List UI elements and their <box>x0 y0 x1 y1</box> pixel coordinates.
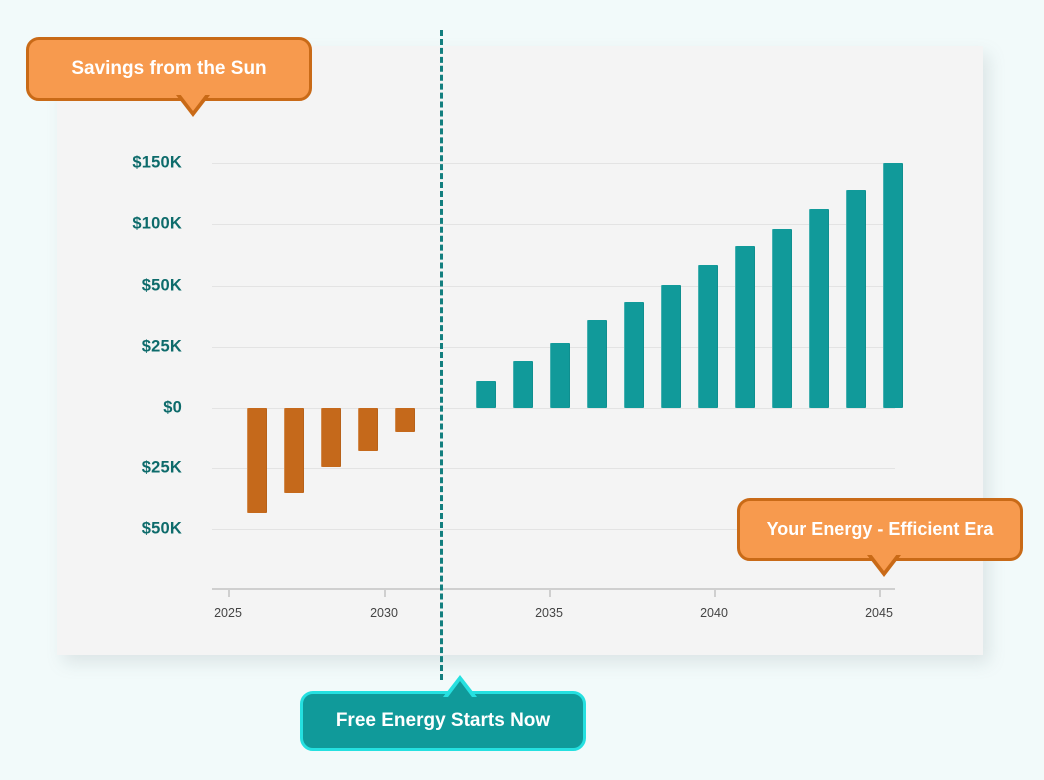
y-axis-tick-label: $100K <box>62 215 182 234</box>
gridline <box>212 408 895 409</box>
x-axis-tick-label: 2030 <box>354 606 414 620</box>
x-axis-tick-label: 2045 <box>849 606 909 620</box>
callout-energy-efficient-era[interactable]: Your Energy - Efficient Era <box>737 498 1023 561</box>
y-axis-tick-label: $50K <box>62 520 182 539</box>
callout-savings-label: Savings from the Sun <box>71 58 266 80</box>
x-axis-tick <box>384 588 386 597</box>
callout-pointer-up-icon <box>443 675 477 697</box>
y-axis-tick-label: $25K <box>62 459 182 478</box>
callout-pointer-down-icon <box>176 95 210 117</box>
x-axis-tick <box>714 588 716 597</box>
x-axis-tick <box>549 588 551 597</box>
bar-positive[interactable] <box>513 361 533 408</box>
bar-positive[interactable] <box>735 246 755 408</box>
bar-positive[interactable] <box>550 343 570 408</box>
x-axis-tick-label: 2040 <box>684 606 744 620</box>
bar-negative[interactable] <box>284 408 304 493</box>
y-axis-tick-label: $150K <box>62 154 182 173</box>
callout-free-energy-starts-now[interactable]: Free Energy Starts Now <box>300 691 586 751</box>
plot-area: $150K$100K$50K$25K$0$25K$50K202520302035… <box>0 0 1044 780</box>
gridline <box>212 163 895 164</box>
gridline <box>212 468 895 469</box>
callout-savings-bubble: Savings from the Sun <box>26 37 312 101</box>
callout-free-label: Free Energy Starts Now <box>336 710 550 732</box>
bar-positive[interactable] <box>587 320 607 408</box>
callout-free-bubble: Free Energy Starts Now <box>300 691 586 751</box>
bar-negative[interactable] <box>247 408 267 513</box>
bar-positive[interactable] <box>772 229 792 408</box>
x-axis-tick <box>228 588 230 597</box>
y-axis-tick-label: $0 <box>62 399 182 418</box>
bar-positive[interactable] <box>809 209 829 408</box>
x-axis-line <box>212 588 895 590</box>
bar-positive[interactable] <box>698 265 718 408</box>
bar-positive[interactable] <box>624 302 644 408</box>
y-axis-tick-label: $25K <box>62 338 182 357</box>
gridline <box>212 286 895 287</box>
bar-negative[interactable] <box>321 408 341 467</box>
gridline <box>212 224 895 225</box>
bar-positive[interactable] <box>846 190 866 408</box>
bar-positive[interactable] <box>661 285 681 408</box>
bar-positive[interactable] <box>476 381 496 408</box>
x-axis-tick <box>879 588 881 597</box>
callout-era-label: Your Energy - Efficient Era <box>767 519 994 540</box>
x-axis-tick-label: 2025 <box>198 606 258 620</box>
bar-positive[interactable] <box>883 163 903 408</box>
timeline-divider-dashed-line <box>440 30 443 680</box>
callout-era-bubble: Your Energy - Efficient Era <box>737 498 1023 561</box>
y-axis-tick-label: $50K <box>62 277 182 296</box>
x-axis-tick-label: 2035 <box>519 606 579 620</box>
callout-savings-from-the-sun[interactable]: Savings from the Sun <box>26 37 312 101</box>
callout-pointer-down-icon <box>867 555 901 577</box>
bar-negative[interactable] <box>358 408 378 451</box>
chart-stage: $150K$100K$50K$25K$0$25K$50K202520302035… <box>0 0 1044 780</box>
bar-negative[interactable] <box>395 408 415 432</box>
